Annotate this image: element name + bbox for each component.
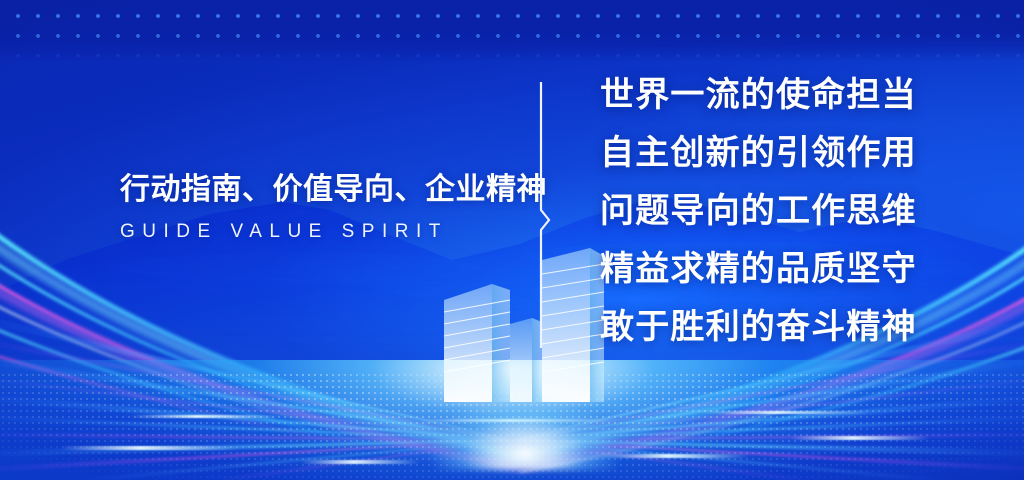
chevron-right-notch [541, 82, 549, 348]
slogan-line-2: 自主创新的引领作用 [600, 124, 960, 182]
slogan-line-5: 敢于胜利的奋斗精神 [600, 298, 960, 356]
halftone-dot-grid [0, 0, 1024, 60]
tower-base-glow [400, 360, 650, 470]
left-text-block: 行动指南、价值导向、企业精神 GUIDE VALUE SPIRIT [120, 172, 500, 243]
left-subline: GUIDE VALUE SPIRIT [120, 222, 500, 243]
slogan-line-3: 问题导向的工作思维 [600, 182, 960, 240]
right-text-block: 世界一流的使命担当 自主创新的引领作用 问题导向的工作思维 精益求精的品质坚守 … [600, 66, 960, 356]
culture-banner: 行动指南、价值导向、企业精神 GUIDE VALUE SPIRIT 世界一流的使… [0, 0, 1024, 480]
vertical-divider [536, 82, 558, 348]
slogan-line-4: 精益求精的品质坚守 [600, 240, 960, 298]
left-headline: 行动指南、价值导向、企业精神 [120, 172, 500, 208]
slogan-line-1: 世界一流的使命担当 [600, 66, 960, 124]
